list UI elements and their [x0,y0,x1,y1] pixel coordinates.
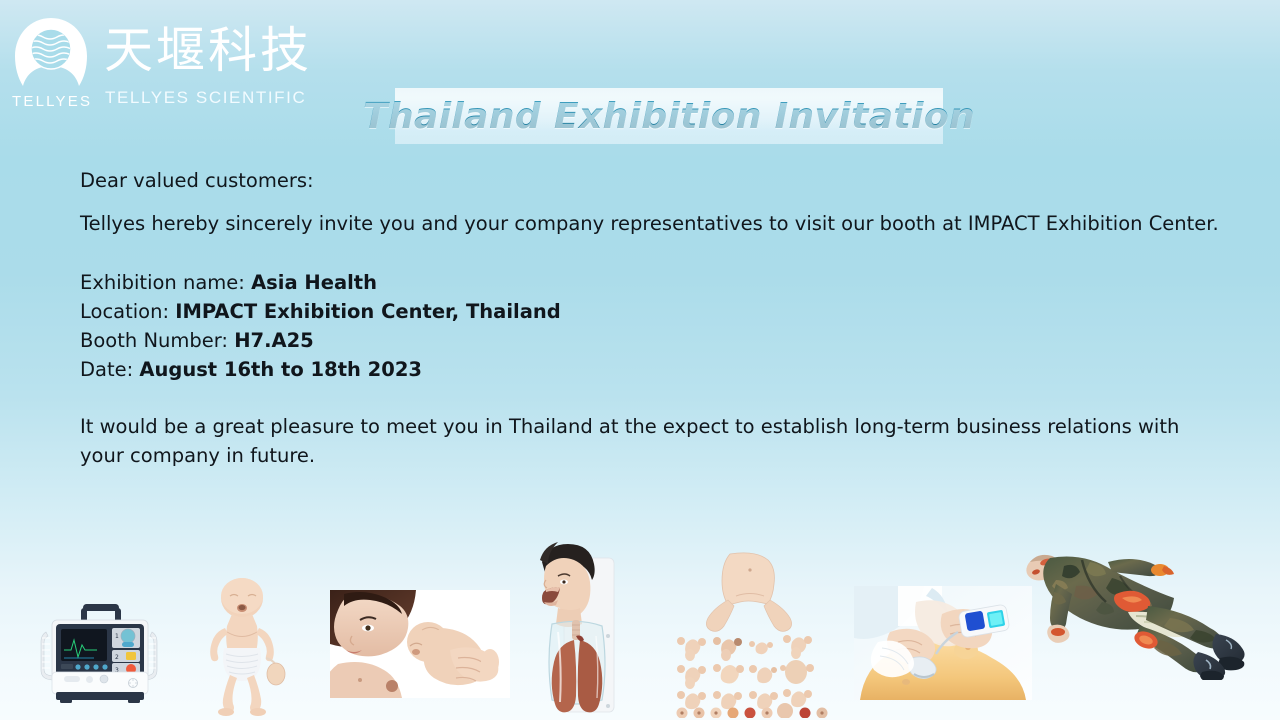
product-image-strip: 1 2 3 [0,490,1280,720]
svg-text:2: 2 [115,654,119,661]
trauma-casualty-manikin-image [1020,540,1270,680]
intro-paragraph: Tellyes hereby sincerely invite you and … [80,209,1230,238]
logo-wordmark: TELLYES [12,93,92,110]
title-banner: Thailand Exhibition Invitation [395,88,943,144]
detail-label: Location: [80,300,175,323]
detail-label: Date: [80,358,139,381]
detail-label: Booth Number: [80,329,234,352]
detail-value: H7.A25 [234,329,314,352]
page-title: Thailand Exhibition Invitation [363,96,975,137]
detail-booth-number: Booth Number: H7.A25 [80,326,1230,355]
salutation-text: Dear valued customers: [80,166,1230,195]
detail-value: August 16th to 18th 2023 [139,358,422,381]
detail-exhibition-name: Exhibition name: Asia Health [80,268,1230,297]
airway-lung-trainer-image [524,540,620,720]
spacer [80,238,1230,268]
spacer [80,195,1230,209]
detail-date: Date: August 16th to 18th 2023 [80,355,1230,384]
closing-paragraph: It would be a great pleasure to meet you… [80,412,1185,470]
detail-value: IMPACT Exhibition Center, Thailand [175,300,560,323]
breastfeeding-training-image [330,590,510,698]
gynecology-trainer-set-image [672,550,840,718]
defibrillator-monitor-image: 1 2 3 [34,598,164,708]
detail-value: Asia Health [251,271,377,294]
ultrasound-simulation-image [854,586,1032,700]
svg-text:1: 1 [115,633,119,640]
brand-name-english: TELLYES SCIENTIFIC [105,88,306,108]
invitation-body: Dear valued customers: Tellyes hereby si… [80,166,1230,470]
brand-name-chinese: 天堰科技 [104,24,312,78]
spacer [80,384,1230,412]
detail-location: Location: IMPACT Exhibition Center, Thai… [80,297,1230,326]
infant-manikin-image [196,576,288,716]
tellyes-dome-wave-logo-icon [12,16,90,92]
detail-label: Exhibition name: [80,271,251,294]
